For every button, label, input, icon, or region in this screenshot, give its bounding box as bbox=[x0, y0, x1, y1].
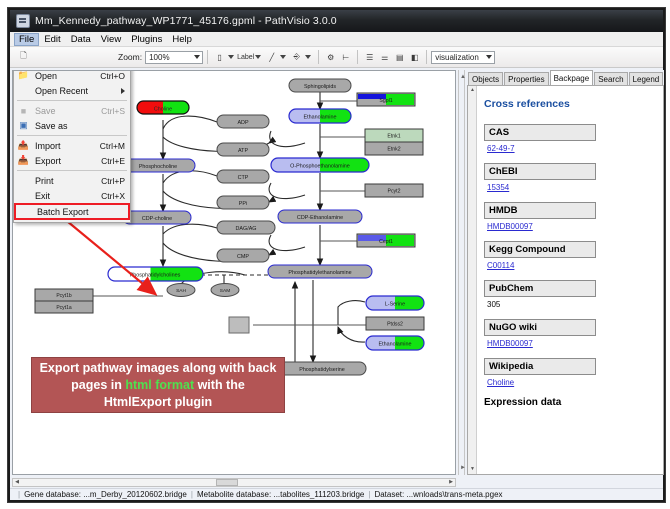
tool-bar: 🗋 Zoom: 100% ▯ Label ╱ ⎆ ⚙ ⊢ ☰ ⚌ ▤ ◧ bbox=[10, 47, 663, 68]
datanode-dropdown-icon[interactable] bbox=[228, 55, 234, 59]
file-menu-label: Export bbox=[31, 156, 101, 166]
line-icon[interactable]: ╱ bbox=[265, 51, 278, 64]
toolbar-separator-3 bbox=[357, 50, 358, 64]
xref-link-hmdb[interactable]: HMDB00097 bbox=[487, 222, 533, 231]
menu-file[interactable]: File bbox=[14, 33, 39, 46]
xref-value-kegg[interactable]: C00114 bbox=[484, 261, 657, 270]
scroll-down-icon[interactable]: ▼ bbox=[469, 466, 476, 473]
annotation-line3: HtmlExport plugin bbox=[104, 395, 212, 409]
file-menu-label: Save bbox=[31, 106, 101, 116]
blank-icon bbox=[18, 205, 33, 218]
cross-references-heading: Cross references bbox=[484, 98, 657, 110]
expression-data-heading: Expression data bbox=[484, 397, 657, 408]
chevron-down-icon bbox=[194, 55, 200, 59]
xref-value-cas[interactable]: 62-49-7 bbox=[484, 144, 657, 153]
svg-text:L-Serine: L-Serine bbox=[385, 302, 405, 308]
file-menu-label: Exit bbox=[31, 191, 101, 201]
tab-properties[interactable]: Properties bbox=[504, 72, 548, 85]
status-separator: | bbox=[18, 490, 20, 499]
import-icon: 📤 bbox=[16, 139, 31, 152]
status-dataset-value: ...wnloads\trans-meta.pgex bbox=[406, 490, 502, 499]
save-as-icon: ▣ bbox=[16, 119, 31, 132]
annotation-callout: Export pathway images along with back pa… bbox=[31, 357, 285, 413]
annotation-line2-post: with the bbox=[194, 378, 245, 392]
file-menu-accel: Ctrl+S bbox=[101, 106, 130, 116]
xref-link-nugo[interactable]: HMDB00097 bbox=[487, 339, 533, 348]
file-menu-separator bbox=[17, 135, 127, 136]
svg-text:Phosphatidylserine: Phosphatidylserine bbox=[299, 367, 345, 373]
menu-data[interactable]: Data bbox=[66, 33, 96, 46]
label-icon[interactable]: Label bbox=[237, 54, 254, 61]
file-menu-dropdown[interactable]: 🗋 New Ctrl+N 📁 Open Ctrl+O Open Recent bbox=[13, 70, 131, 223]
status-gene-database-label: Gene database: bbox=[24, 490, 81, 499]
svg-text:Phosphatidylethanolamine: Phosphatidylethanolamine bbox=[288, 270, 351, 276]
svg-text:CMP: CMP bbox=[237, 254, 249, 260]
align-bottom-icon[interactable]: ▤ bbox=[393, 51, 406, 64]
shape-dropdown-icon[interactable] bbox=[305, 55, 311, 59]
svg-text:Cept1: Cept1 bbox=[379, 239, 393, 245]
file-menu-item-batch-export[interactable]: Batch Export bbox=[14, 203, 130, 220]
scroll-up-icon[interactable]: ▲ bbox=[469, 87, 476, 94]
svg-text:SAM: SAM bbox=[220, 288, 230, 294]
file-menu-label: Save as bbox=[31, 121, 125, 131]
svg-text:Ethanolamine: Ethanolamine bbox=[379, 342, 412, 348]
svg-text:PPi: PPi bbox=[239, 201, 247, 207]
chevron-right-icon bbox=[121, 88, 125, 94]
folder-open-icon: 📁 bbox=[16, 70, 31, 82]
datanode-icon[interactable]: ▯ bbox=[213, 51, 226, 64]
file-menu-accel: Ctrl+O bbox=[100, 71, 130, 81]
group-icon[interactable]: ⊢ bbox=[339, 51, 352, 64]
svg-text:CDP-Ethanolamine: CDP-Ethanolamine bbox=[297, 215, 343, 221]
zoom-label: Zoom: bbox=[118, 52, 142, 62]
file-menu-item-import[interactable]: 📤 Import Ctrl+M bbox=[14, 138, 130, 153]
svg-text:Pcyt1b: Pcyt1b bbox=[56, 293, 72, 299]
file-menu-item-print[interactable]: Print Ctrl+P bbox=[14, 173, 130, 188]
main-area: Choline ADP ATP Phosphocholine CTP PPi C… bbox=[10, 68, 663, 478]
status-area: ◀ ▶ | Gene database: ...m_Derby_20120602… bbox=[10, 478, 663, 500]
title-bar: Mm_Kennedy_pathway_WP1771_45176.gpml - P… bbox=[10, 10, 663, 32]
shape-icon[interactable]: ⎆ bbox=[290, 51, 303, 64]
status-separator: | bbox=[368, 490, 370, 499]
align-left-icon[interactable]: ◧ bbox=[408, 51, 421, 64]
svg-text:Ptdss2: Ptdss2 bbox=[387, 322, 403, 328]
svg-text:DAG/AG: DAG/AG bbox=[236, 226, 257, 232]
file-menu-item-open-recent[interactable]: Open Recent bbox=[14, 83, 130, 98]
xref-name-hmdb: HMDB bbox=[484, 202, 596, 219]
splitter-grip-top[interactable]: ▲ bbox=[460, 74, 466, 80]
xref-name-chebi: ChEBI bbox=[484, 163, 596, 180]
blank-icon bbox=[16, 189, 31, 202]
svg-text:Choline: Choline bbox=[154, 107, 172, 113]
toolbar-separator-2 bbox=[318, 50, 319, 64]
xref-value-wikipedia[interactable]: Choline bbox=[484, 378, 657, 387]
canvas-horizontal-scrollbar[interactable]: ◀ ▶ bbox=[12, 478, 456, 487]
xref-link-cas[interactable]: 62-49-7 bbox=[487, 144, 515, 153]
xref-name-wikipedia: Wikipedia bbox=[484, 358, 596, 375]
tab-backpage[interactable]: Backpage bbox=[550, 70, 594, 85]
tab-legend[interactable]: Legend bbox=[629, 72, 664, 85]
xref-value-hmdb[interactable]: HMDB00097 bbox=[484, 222, 657, 231]
svg-text:Phosphatidylcholines: Phosphatidylcholines bbox=[130, 273, 181, 279]
blank-icon bbox=[16, 84, 31, 97]
status-separator: | bbox=[191, 490, 193, 499]
line-dropdown-icon[interactable] bbox=[280, 55, 286, 59]
scroll-left-icon[interactable]: ◀ bbox=[13, 479, 21, 486]
svg-text:Etnk1: Etnk1 bbox=[387, 134, 400, 140]
window-title: Mm_Kennedy_pathway_WP1771_45176.gpml - P… bbox=[35, 15, 337, 27]
svg-text:ADP: ADP bbox=[237, 120, 248, 126]
status-metabolite-database-label: Metabolite database: bbox=[197, 490, 271, 499]
xref-value-pubchem: 305 bbox=[484, 300, 657, 309]
file-menu-item-open[interactable]: 📁 Open Ctrl+O bbox=[14, 70, 130, 83]
backpage-content: Cross references CAS 62-49-7 ChEBI 15354… bbox=[478, 86, 663, 474]
file-menu-label: Print bbox=[31, 176, 101, 186]
backpage-scrollbar[interactable]: ▲ ▼ bbox=[468, 86, 477, 474]
menu-help[interactable]: Help bbox=[167, 33, 197, 46]
new-file-icon[interactable]: 🗋 bbox=[17, 51, 30, 64]
xref-name-kegg: Kegg Compound bbox=[484, 241, 596, 258]
tab-search[interactable]: Search bbox=[594, 72, 627, 85]
file-menu-label: Batch Export bbox=[33, 207, 128, 217]
status-metabolite-database-value: ...tabolites_111203.bridge bbox=[273, 490, 364, 499]
xref-value-chebi[interactable]: 15354 bbox=[484, 183, 657, 192]
svg-text:ATP: ATP bbox=[238, 148, 248, 154]
toolbar-file-icons: 🗋 bbox=[10, 51, 116, 64]
app-icon bbox=[16, 14, 30, 28]
blank-icon bbox=[16, 174, 31, 187]
file-menu-accel: Ctrl+M bbox=[100, 141, 130, 151]
annotation-line1: Export pathway images along with back bbox=[40, 361, 277, 375]
backpage-panel: ▲ ▼ Cross references CAS 62-49-7 ChEBI 1… bbox=[467, 85, 664, 475]
panel-splitter[interactable]: ▲ ► bbox=[458, 70, 465, 475]
toolbar-separator-4 bbox=[426, 50, 427, 64]
menu-plugins[interactable]: Plugins bbox=[126, 33, 167, 46]
file-menu-separator bbox=[17, 100, 127, 101]
file-menu-accel: Ctrl+E bbox=[101, 156, 130, 166]
svg-text:Etnk2: Etnk2 bbox=[387, 147, 400, 153]
svg-text:Pcyt2: Pcyt2 bbox=[388, 189, 401, 195]
align-top-icon[interactable]: ☰ bbox=[363, 51, 376, 64]
file-menu-item-save-as[interactable]: ▣ Save as bbox=[14, 118, 130, 133]
zoom-combobox[interactable]: 100% bbox=[145, 51, 203, 64]
scroll-right-icon[interactable]: ▶ bbox=[447, 479, 455, 486]
svg-text:Sphingolipids: Sphingolipids bbox=[304, 84, 336, 90]
file-menu-item-export[interactable]: 📥 Export Ctrl+E bbox=[14, 153, 130, 168]
scrollbar-thumb[interactable] bbox=[216, 479, 238, 486]
anchor-icon[interactable]: ⚙ bbox=[324, 51, 337, 64]
xref-name-nugo: NuGO wiki bbox=[484, 319, 596, 336]
file-menu-separator bbox=[17, 170, 127, 171]
label-dropdown-icon[interactable] bbox=[255, 55, 261, 59]
visualization-combobox[interactable]: visualization bbox=[431, 51, 495, 64]
pathvisio-window: Mm_Kennedy_pathway_WP1771_45176.gpml - P… bbox=[8, 8, 665, 502]
annotation-line2-pre: pages in bbox=[71, 378, 125, 392]
svg-text:Phosphocholine: Phosphocholine bbox=[139, 164, 177, 170]
save-disk-icon: ■ bbox=[16, 104, 31, 117]
svg-text:CDP-choline: CDP-choline bbox=[142, 216, 172, 222]
export-icon: 📥 bbox=[16, 154, 31, 167]
svg-text:Ethanolamine: Ethanolamine bbox=[304, 115, 337, 121]
svg-text:Pcyt1a: Pcyt1a bbox=[56, 305, 72, 311]
side-panel-tabs: Objects Properties Backpage Search Legen… bbox=[467, 70, 664, 85]
screenshot-root: Mm_Kennedy_pathway_WP1771_45176.gpml - P… bbox=[0, 0, 670, 509]
status-bar: | Gene database: ...m_Derby_20120602.bri… bbox=[10, 488, 663, 500]
chevron-down-icon bbox=[486, 55, 492, 59]
splitter-grip-bottom[interactable]: ► bbox=[460, 465, 466, 471]
menu-bar: File Edit Data View Plugins Help bbox=[10, 32, 663, 47]
svg-text:Sgpl1: Sgpl1 bbox=[379, 98, 392, 104]
menu-edit[interactable]: Edit bbox=[39, 33, 65, 46]
svg-text:SAH: SAH bbox=[176, 288, 186, 294]
side-panel: Objects Properties Backpage Search Legen… bbox=[467, 70, 664, 475]
xref-link-wikipedia[interactable]: Choline bbox=[487, 378, 514, 387]
file-menu-label: Open bbox=[31, 71, 100, 81]
file-menu-label: Open Recent bbox=[31, 86, 130, 96]
align-center-icon[interactable]: ⚌ bbox=[378, 51, 391, 64]
pathway-canvas[interactable]: Choline ADP ATP Phosphocholine CTP PPi C… bbox=[12, 70, 456, 475]
xref-link-chebi[interactable]: 15354 bbox=[487, 183, 509, 192]
svg-text:O-Phosphoethanolamine: O-Phosphoethanolamine bbox=[290, 164, 350, 170]
xref-link-kegg[interactable]: C00114 bbox=[487, 261, 514, 270]
tab-objects[interactable]: Objects bbox=[468, 72, 503, 85]
xref-name-pubchem: PubChem bbox=[484, 280, 596, 297]
file-menu-accel: Ctrl+P bbox=[101, 176, 130, 186]
toolbar-separator bbox=[207, 50, 208, 64]
file-menu-accel: Ctrl+X bbox=[101, 191, 130, 201]
zoom-value: 100% bbox=[149, 53, 169, 62]
xref-name-cas: CAS bbox=[484, 124, 596, 141]
file-menu-label: Import bbox=[31, 141, 100, 151]
file-menu-item-save: ■ Save Ctrl+S bbox=[14, 103, 130, 118]
svg-text:CTP: CTP bbox=[238, 175, 249, 181]
xref-value-nugo[interactable]: HMDB00097 bbox=[484, 339, 657, 348]
menu-view[interactable]: View bbox=[96, 33, 126, 46]
status-dataset-label: Dataset: bbox=[374, 490, 404, 499]
annotation-highlight: html format bbox=[125, 378, 194, 392]
visualization-value: visualization bbox=[435, 53, 479, 62]
status-gene-database-value: ...m_Derby_20120602.bridge bbox=[83, 490, 187, 499]
file-menu-item-exit[interactable]: Exit Ctrl+X bbox=[14, 188, 130, 203]
